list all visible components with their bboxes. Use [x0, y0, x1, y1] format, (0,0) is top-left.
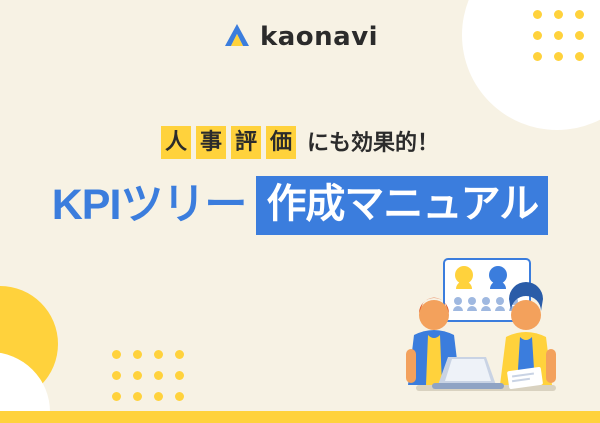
main-title: KPIツリー 作成マニュアル [0, 176, 600, 235]
subtitle-char-4: 価 [266, 126, 296, 159]
decor-dots-bottom-left [112, 350, 184, 401]
cover-slide: kaonavi 人 事 評 価 にも効果的！ KPIツリー 作成マニュアル [0, 0, 600, 423]
subtitle-tail-text: にも効果的！ [307, 132, 439, 154]
subtitle-char-2: 事 [196, 126, 226, 159]
subtitle-char-1: 人 [161, 126, 191, 159]
brand-logo: kaonavi [0, 22, 600, 52]
illustration-team-org-chart [386, 253, 576, 413]
brand-name: kaonavi [260, 22, 378, 52]
subtitle-char-3: 評 [231, 126, 261, 159]
subtitle-line: 人 事 評 価 にも効果的！ [0, 126, 600, 159]
bottom-accent-bar [0, 411, 600, 423]
kaonavi-triangle-mark-icon [222, 22, 252, 52]
title-plain-text: KPIツリー [52, 184, 247, 227]
title-highlight-text: 作成マニュアル [256, 176, 548, 235]
